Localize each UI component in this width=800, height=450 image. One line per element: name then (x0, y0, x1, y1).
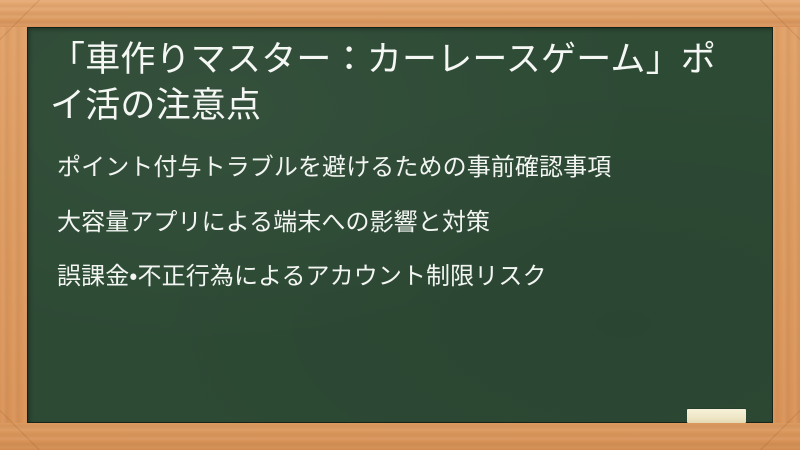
frame-rail-top (0, 0, 800, 27)
list-item: 大容量アプリによる端末への影響と対策 (57, 207, 757, 240)
frame-rail-bottom (0, 423, 800, 450)
slide-bullet-list: ポイント付与トラブルを避けるための事前確認事項 大容量アプリによる端末への影響と… (57, 152, 757, 294)
chalk-stick-icon (687, 409, 746, 423)
blackboard-slide: 「車作りマスター：カーレースゲーム」ポイ活の注意点 ポイント付与トラブルを避ける… (0, 0, 800, 450)
list-item: ポイント付与トラブルを避けるための事前確認事項 (57, 152, 757, 185)
slide-title: 「車作りマスター：カーレースゲーム」ポイ活の注意点 (50, 37, 750, 128)
chalkboard-surface: 「車作りマスター：カーレースゲーム」ポイ活の注意点 ポイント付与トラブルを避ける… (27, 27, 773, 423)
list-item: 誤課金・不正行為によるアカウント制限リスク (57, 261, 757, 294)
